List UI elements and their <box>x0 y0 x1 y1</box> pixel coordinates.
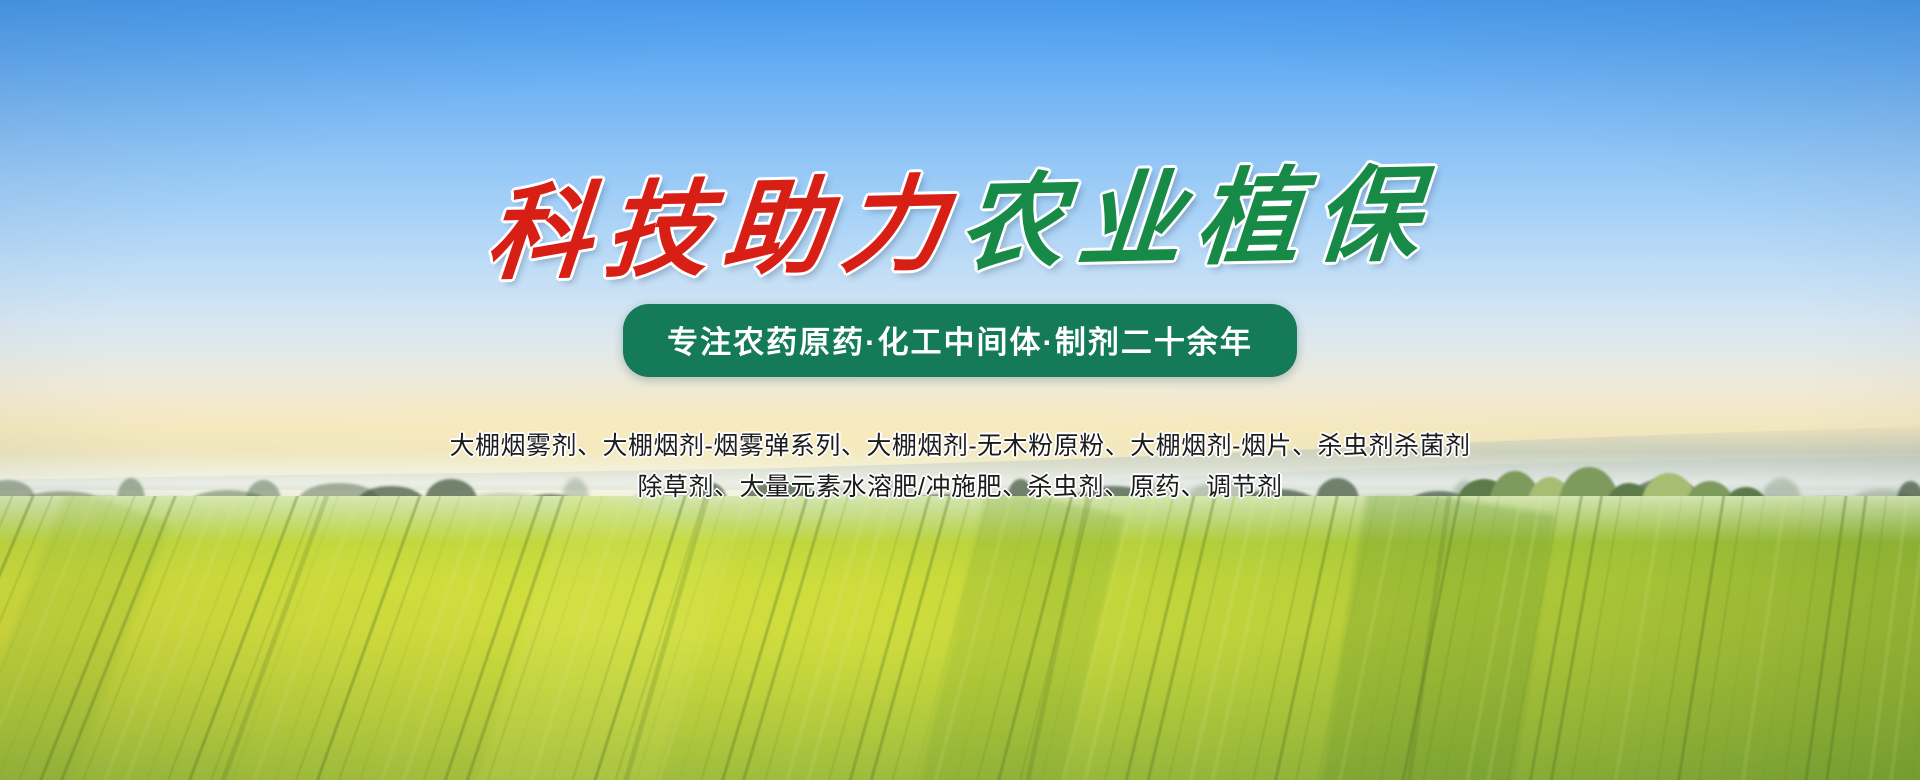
product-list: 大棚烟雾剂、大棚烟剂-烟雾弹系列、大棚烟剂-无木粉原粉、大棚烟剂-烟片、杀虫剂杀… <box>450 425 1471 509</box>
headline: 科技助力农业植保 <box>482 158 1437 290</box>
tagline-badge: 专注农药原药·化工中间体·制剂二十余年 <box>623 304 1297 377</box>
headline-green-text: 农业植保 <box>955 152 1438 285</box>
product-line-1: 大棚烟雾剂、大棚烟剂-烟雾弹系列、大棚烟剂-无木粉原粉、大棚烟剂-烟片、杀虫剂杀… <box>450 427 1471 466</box>
banner-content: 科技助力农业植保 专注农药原药·化工中间体·制剂二十余年 大棚烟雾剂、大棚烟剂-… <box>0 0 1920 780</box>
product-line-2: 除草剂、大量元素水溶肥/冲施肥、杀虫剂、原药、调节剂 <box>450 468 1471 507</box>
headline-red-text: 科技助力 <box>482 162 965 295</box>
hero-banner: 科技助力农业植保 专注农药原药·化工中间体·制剂二十余年 大棚烟雾剂、大棚烟剂-… <box>0 0 1920 780</box>
